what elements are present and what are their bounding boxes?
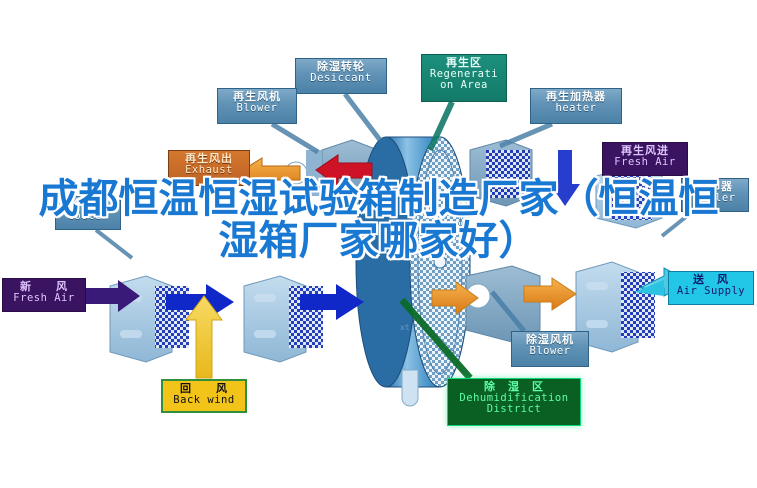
callout-regen-air-inlet-en: Fresh Air	[607, 157, 683, 168]
callout-regeneration-area: 再生区Regenerati on Area	[421, 54, 507, 102]
callout-back-wind-en: Back wind	[167, 395, 241, 406]
callout-regen-blower-en: Blower	[222, 103, 292, 114]
callout-dehumid-blower: 除湿风机Blower	[511, 331, 589, 367]
process-coil-2	[244, 276, 323, 362]
callout-cooler-right-en: Cooler	[686, 193, 744, 204]
callout-back-wind-cn: 回 风	[167, 383, 241, 394]
callout-dehumid-district-en: Dehumidification District	[452, 393, 576, 414]
callout-regen-air-inlet: 再生风进Fresh Air	[602, 142, 688, 176]
callout-cooler-left: 冷却器Cooler	[55, 196, 121, 230]
callout-fresh-air-inlet-cn: 新 风	[7, 281, 81, 292]
callout-cooler-left-cn: 冷却器	[60, 199, 116, 210]
callout-dehumid-blower-en: Blower	[516, 346, 584, 357]
callout-regen-heater-cn: 再生加热器	[535, 91, 617, 102]
callout-regen-heater-en: heater	[535, 103, 617, 114]
callout-desiccant-wheel-cn: 除湿转轮	[300, 61, 382, 72]
diagram-canvas: xt	[0, 0, 757, 488]
callout-cooler-right-cn: 冷却器	[686, 181, 744, 192]
callout-fresh-air-inlet-en: Fresh Air	[7, 293, 81, 304]
callout-dehumid-blower-cn: 除湿风机	[516, 334, 584, 345]
callout-regen-air-inlet-cn: 再生风进	[607, 145, 683, 156]
regen-heater-block	[470, 140, 532, 206]
callout-regeneration-area-cn: 再生区	[426, 57, 502, 68]
callout-dehumid-district: 除 湿 区Dehumidification District	[447, 378, 581, 426]
callout-regeneration-area-en: Regenerati on Area	[426, 69, 502, 90]
callout-air-supply-cn: 送 风	[673, 274, 749, 285]
callout-cooler-right: 冷却器Cooler	[681, 178, 749, 212]
desiccant-rotor-wheel: xt	[356, 137, 470, 387]
callout-desiccant-wheel: 除湿转轮Desiccant	[295, 58, 387, 94]
callout-regen-air-outlet-cn: 再生风出	[173, 153, 245, 164]
callout-dehumid-district-cn: 除 湿 区	[452, 381, 576, 392]
callout-air-supply: 送 风Air Supply	[668, 271, 754, 305]
callout-regen-air-outlet: 再生风出Exhaust	[168, 150, 250, 186]
callout-regen-heater: 再生加热器heater	[530, 88, 622, 124]
callout-air-supply-en: Air Supply	[673, 286, 749, 297]
callout-regen-blower-cn: 再生风机	[222, 91, 292, 102]
regen-down-arrow	[550, 150, 580, 206]
callout-cooler-left-en: Cooler	[60, 211, 116, 222]
callout-regen-air-outlet-en: Exhaust	[173, 165, 245, 176]
svg-text:xt: xt	[400, 323, 410, 332]
callout-back-wind: 回 风Back wind	[161, 379, 247, 413]
callout-desiccant-wheel-en: Desiccant	[300, 73, 382, 84]
callout-regen-blower: 再生风机Blower	[217, 88, 297, 124]
callout-fresh-air-inlet: 新 风Fresh Air	[2, 278, 86, 312]
